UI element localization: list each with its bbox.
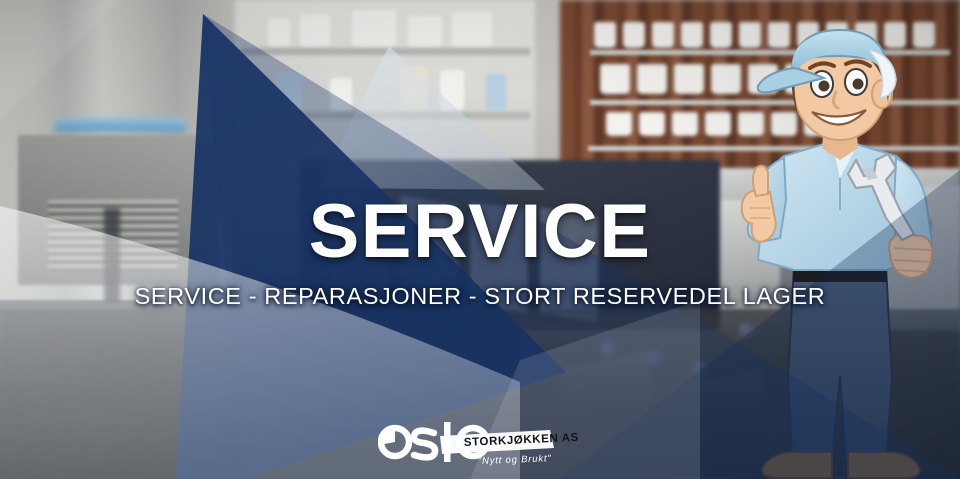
left-pupil xyxy=(819,81,830,92)
logo-tagline: "Nytt og Brukt" xyxy=(478,453,552,467)
logo-letter-l xyxy=(444,422,451,462)
technician-mascot xyxy=(736,28,960,479)
right-pupil xyxy=(853,79,864,90)
logo-letter-o-1 xyxy=(381,428,409,456)
company-logo[interactable]: STORKJØKKEN AS "Nytt og Brukt" xyxy=(378,414,588,472)
right-boot xyxy=(848,452,920,478)
service-banner: SERVICE SERVICE - REPARASJONER - STORT R… xyxy=(0,0,960,479)
logo-letter-s xyxy=(414,431,435,458)
left-boot xyxy=(762,452,832,478)
jeans xyxy=(788,266,892,460)
